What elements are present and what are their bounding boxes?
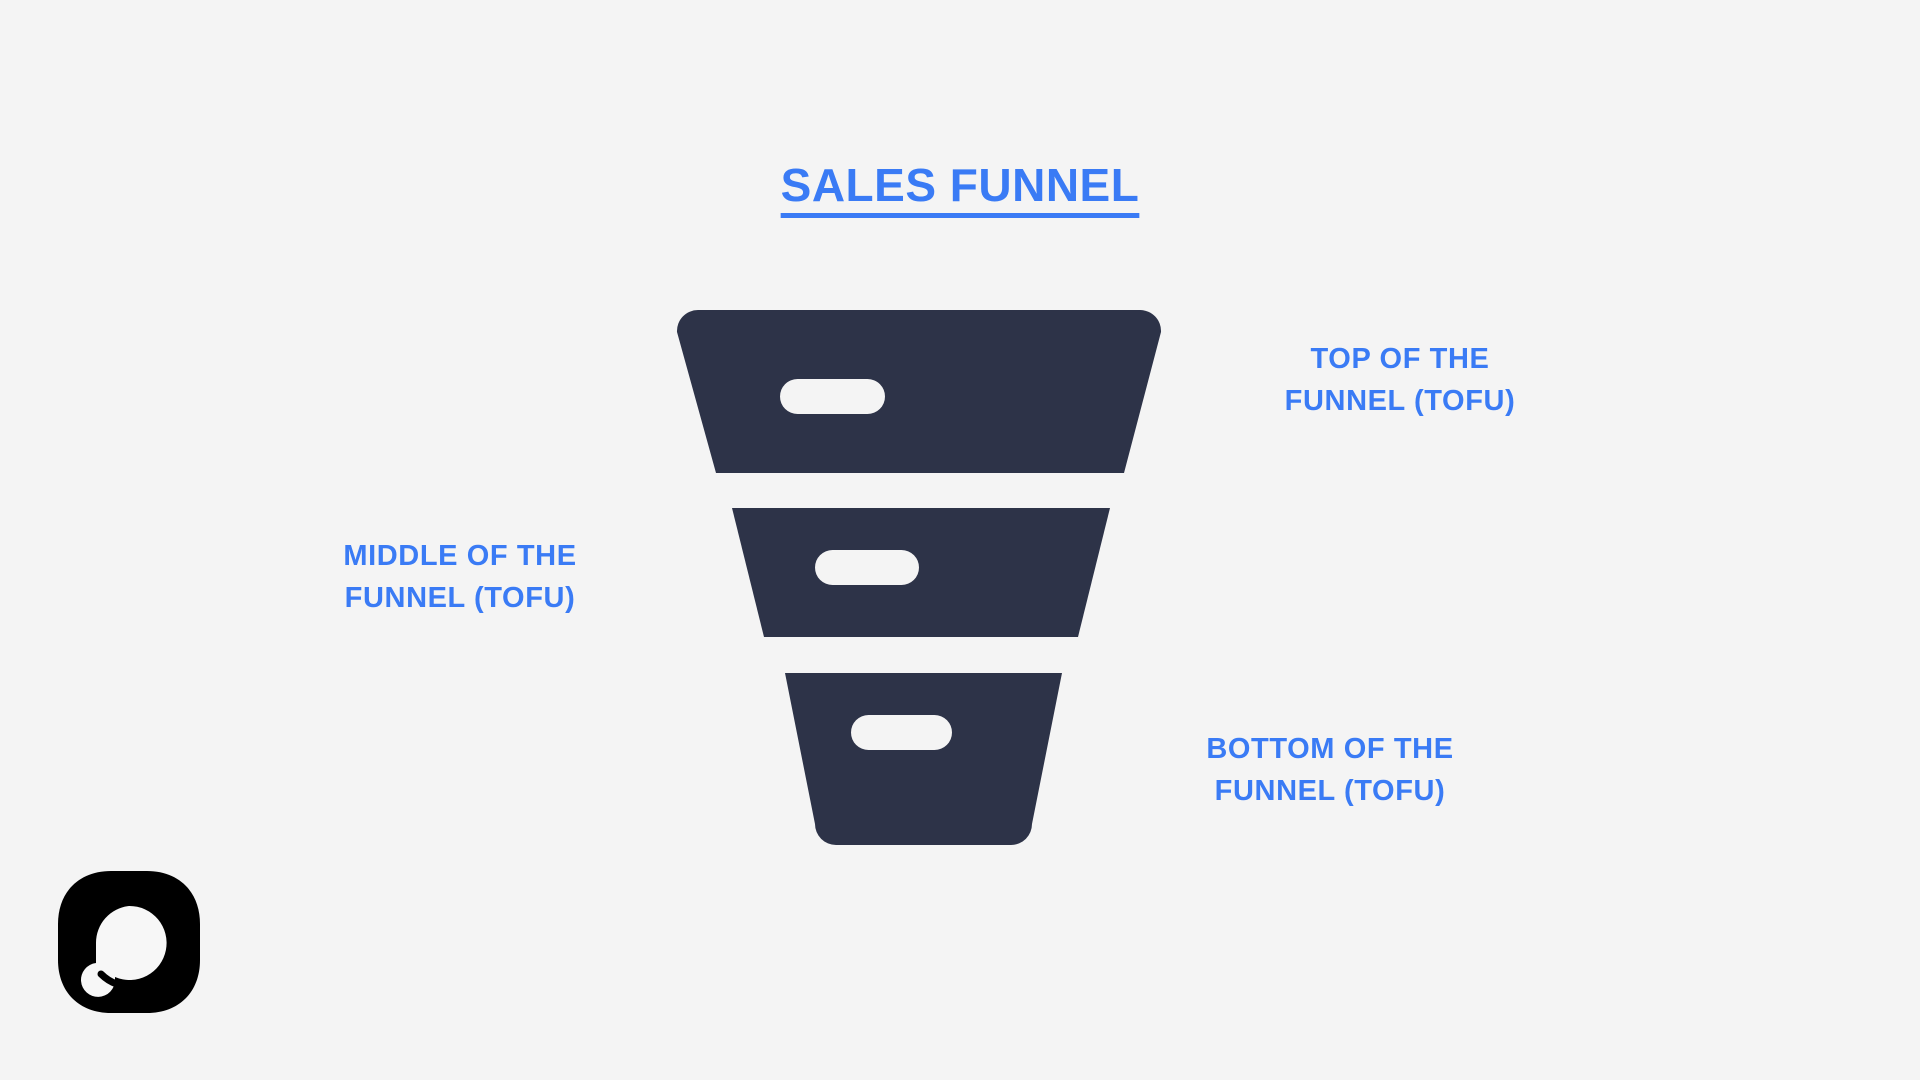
slide-canvas: SALES FUNNEL TOP OF THE FUNNEL (TOFU) MI… xyxy=(0,0,1920,1080)
funnel-stage-middle-slot xyxy=(815,550,919,585)
funnel-stage-top-shape xyxy=(677,310,1161,473)
funnel-stage-top[interactable] xyxy=(677,310,1161,473)
sales-funnel-diagram xyxy=(640,290,1200,870)
funnel-stage-middle-shape xyxy=(732,508,1110,637)
funnel-stage-bottom-shape xyxy=(785,673,1062,845)
funnel-stage-bottom[interactable] xyxy=(785,673,1062,845)
callout-top-of-funnel: TOP OF THE FUNNEL (TOFU) xyxy=(1190,338,1610,422)
funnel-stage-top-slot xyxy=(780,379,885,414)
callout-middle-of-funnel: MIDDLE OF THE FUNNEL (TOFU) xyxy=(250,535,670,619)
brand-logo-icon xyxy=(55,868,203,1016)
funnel-stage-bottom-slot xyxy=(851,715,952,750)
page-title: SALES FUNNEL xyxy=(0,158,1920,212)
funnel-stage-middle[interactable] xyxy=(732,508,1110,637)
callout-bottom-of-funnel: BOTTOM OF THE FUNNEL (TOFU) xyxy=(1120,728,1540,812)
